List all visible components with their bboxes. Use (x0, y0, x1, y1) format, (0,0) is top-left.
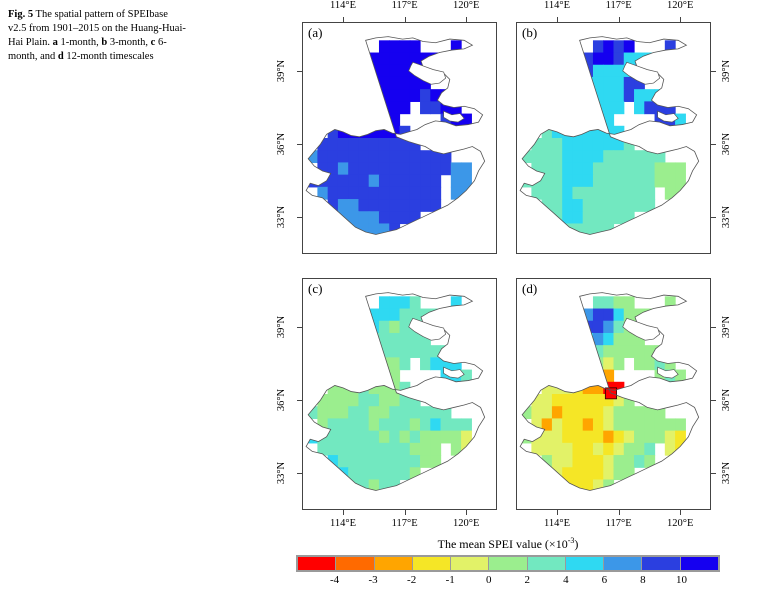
grid-cell (583, 370, 594, 383)
grid-cell (338, 345, 349, 358)
grid-cell (389, 418, 400, 431)
grid-cell (369, 138, 380, 151)
grid-cell (542, 150, 553, 163)
grid-cell (400, 150, 411, 163)
grid-cell (328, 199, 339, 212)
grid-cell (389, 333, 400, 346)
x-axis-tick (680, 510, 681, 515)
grid-cell (410, 455, 421, 468)
grid-cell (338, 370, 349, 383)
grid-cell (348, 199, 359, 212)
grid-cell (603, 138, 614, 151)
panel-grid: (a)114°E117°E120°E39°N36°N33°N(b)114°E11… (250, 0, 766, 535)
grid-cell (369, 114, 380, 127)
grid-cell (665, 187, 676, 200)
grid-cell (358, 199, 369, 212)
x-axis-tick (405, 510, 406, 515)
grid-cell (665, 101, 676, 114)
y-axis-label: 39°N (276, 316, 287, 338)
grid-cell (624, 455, 635, 468)
grid-cell (552, 114, 563, 127)
grid-cell (358, 357, 369, 370)
grid-cell (614, 309, 625, 322)
grid-cell (583, 406, 594, 419)
grid-cell (624, 333, 635, 346)
grid-cell (358, 431, 369, 444)
grid-cell (430, 309, 441, 322)
colorbar-frame (296, 555, 720, 572)
grid-cell (614, 199, 625, 212)
grid-cell (624, 89, 635, 102)
grid-cell (552, 357, 563, 370)
grid-cell (379, 199, 390, 212)
grid-cell (614, 345, 625, 358)
panel-label-a: (a) (308, 25, 322, 41)
grid-cell (614, 333, 625, 346)
grid-cell (348, 150, 359, 163)
grid-cell (348, 431, 359, 444)
grid-cell (644, 101, 655, 114)
colorbar-segment-5 (489, 557, 527, 570)
grid-cell (675, 162, 686, 175)
grid-cell (572, 114, 583, 127)
grid-cell (430, 89, 441, 102)
grid-cell (624, 199, 635, 212)
grid-cell (420, 406, 431, 419)
grid-cell (593, 211, 604, 224)
grid-cell (552, 187, 563, 200)
grid-cell (348, 406, 359, 419)
grid-cell (379, 370, 390, 383)
grid-cell (644, 455, 655, 468)
x-axis-label: 114°E (544, 518, 570, 529)
grid-cell (521, 150, 532, 163)
grid-cell (593, 467, 604, 480)
grid-cell (562, 357, 573, 370)
grid-cell (603, 77, 614, 90)
x-axis-label: 117°E (606, 518, 632, 529)
grid-cell (634, 345, 645, 358)
y-axis-tick (297, 144, 302, 145)
grid-cell (572, 406, 583, 419)
grid-cell (348, 114, 359, 127)
grid-cell (583, 382, 594, 395)
grid-cell (603, 150, 614, 163)
grid-cell (348, 357, 359, 370)
grid-cell (430, 455, 441, 468)
grid-cell (562, 418, 573, 431)
grid-cell (358, 455, 369, 468)
grid-cell (420, 89, 431, 102)
y-axis-label: 33°N (721, 206, 732, 228)
grid-cell (358, 223, 369, 236)
grid-cell (593, 309, 604, 322)
grid-cell (369, 394, 380, 407)
grid-cell (655, 418, 666, 431)
grid-cell (369, 175, 380, 188)
grid-cell (614, 406, 625, 419)
grid-cell (562, 114, 573, 127)
grid-cell (369, 211, 380, 224)
grid-cell (389, 101, 400, 114)
grid-cell (562, 150, 573, 163)
grid-cell (451, 296, 462, 309)
grid-cell (441, 53, 452, 66)
x-axis-label: 120°E (667, 0, 693, 11)
grid-cell (389, 40, 400, 53)
grid-cell (583, 443, 594, 456)
grid-cell (328, 394, 339, 407)
grid-cell (583, 150, 594, 163)
grid-cell (552, 175, 563, 188)
grid-cell (624, 150, 635, 163)
grid-cell (338, 162, 349, 175)
grid-cell (572, 370, 583, 383)
grid-cell (389, 65, 400, 78)
grid-cell (400, 443, 411, 456)
grid-cell (451, 431, 462, 444)
grid-cell (358, 138, 369, 151)
colorbar-tick-label: -3 (368, 574, 377, 586)
grid-cell (400, 345, 411, 358)
grid-cell (358, 406, 369, 419)
grid-cell (451, 309, 462, 322)
grid-cell (307, 150, 318, 163)
y-axis-tick (711, 217, 716, 218)
grid-cell (603, 321, 614, 334)
grid-cell (338, 431, 349, 444)
x-axis-label: 114°E (330, 0, 356, 11)
grid-cell (348, 138, 359, 151)
grid-cell (328, 443, 339, 456)
grid-cell (410, 150, 421, 163)
grid-cell (358, 175, 369, 188)
grid-cell (389, 150, 400, 163)
caption-text-d: 12-month timescales (64, 51, 154, 62)
colorbar-segment-1 (336, 557, 374, 570)
grid-cell (624, 443, 635, 456)
grid-cell (603, 406, 614, 419)
grid-cell (562, 101, 573, 114)
grid-cell (400, 40, 411, 53)
grid-cell (338, 357, 349, 370)
grid-cell (379, 150, 390, 163)
y-axis-tick (711, 144, 716, 145)
colorbar-tick-label: 6 (602, 574, 608, 586)
grid-cell (593, 418, 604, 431)
grid-cell (634, 406, 645, 419)
grid-cell (572, 321, 583, 334)
grid-cell (420, 443, 431, 456)
grid-cell (379, 394, 390, 407)
grid-cell (572, 357, 583, 370)
grid-cell (389, 89, 400, 102)
x-axis-tick (405, 17, 406, 22)
grid-cell (358, 321, 369, 334)
grid-cell (358, 89, 369, 102)
grid-cell (400, 77, 411, 90)
grid-cell (389, 357, 400, 370)
grid-cell (552, 101, 563, 114)
colorbar-title-main: The mean SPEI value (×10 (438, 537, 568, 551)
figure-caption: Fig. 5 The spatial pattern of SPEIbase v… (8, 8, 186, 63)
x-axis-tick (343, 17, 344, 22)
grid-cell (614, 443, 625, 456)
grid-cell (562, 455, 573, 468)
grid-cell (369, 418, 380, 431)
colorbar-segment-7 (566, 557, 604, 570)
grid-cell (379, 321, 390, 334)
grid-cell (307, 406, 318, 419)
grid-cell (379, 296, 390, 309)
grid-cell (461, 418, 472, 431)
grid-cell (583, 467, 594, 480)
grid-cell (369, 382, 380, 395)
grid-cell (603, 101, 614, 114)
grid-cell (665, 431, 676, 444)
grid-cell (400, 455, 411, 468)
map-panel-b: (b)114°E117°E120°E39°N36°N33°N (516, 22, 711, 254)
grid-cell (614, 175, 625, 188)
colorbar-segment-3 (413, 557, 451, 570)
grid-cell (552, 418, 563, 431)
colorbar-title-close: ) (574, 537, 578, 551)
grid-cell (389, 443, 400, 456)
grid-cell (338, 187, 349, 200)
grid-cell (655, 175, 666, 188)
x-axis-label: 117°E (392, 0, 418, 11)
grid-cell (430, 345, 441, 358)
grid-cell (552, 455, 563, 468)
grid-cell (624, 175, 635, 188)
grid-cell (562, 89, 573, 102)
colorbar-tick-label: -2 (407, 574, 416, 586)
grid-cell (348, 394, 359, 407)
colorbar-segment-10 (681, 557, 718, 570)
x-axis-label: 120°E (667, 518, 693, 529)
grid-cell (410, 431, 421, 444)
grid-cell (430, 162, 441, 175)
grid-cell (531, 406, 542, 419)
grid-cell (665, 162, 676, 175)
y-axis-tick (711, 71, 716, 72)
grid-cell (644, 431, 655, 444)
grid-cell (430, 443, 441, 456)
grid-cell (583, 431, 594, 444)
grid-cell (562, 333, 573, 346)
grid-cell (614, 101, 625, 114)
grid-cell (369, 199, 380, 212)
grid-cell (552, 150, 563, 163)
grid-cell (389, 296, 400, 309)
grid-cell (542, 126, 553, 139)
grid-cell (410, 77, 421, 90)
grid-cell (379, 40, 390, 53)
grid-cell (583, 101, 594, 114)
grid-cell (644, 89, 655, 102)
grid-cell (562, 199, 573, 212)
grid-cell (338, 150, 349, 163)
grid-cell (644, 345, 655, 358)
grid-cell (410, 40, 421, 53)
colorbar-tick-label: 8 (640, 574, 646, 586)
grid-cell (572, 333, 583, 346)
grid-cell (348, 333, 359, 346)
grid-cell (593, 138, 604, 151)
grid-cell (358, 211, 369, 224)
grid-cell (562, 321, 573, 334)
grid-cell (603, 53, 614, 66)
grid-cell (552, 138, 563, 151)
grid-cell (441, 162, 452, 175)
grid-cell (379, 211, 390, 224)
grid-cell (552, 370, 563, 383)
grid-cell (441, 309, 452, 322)
colorbar-segment-4 (451, 557, 489, 570)
grid-cell (614, 89, 625, 102)
grid-cell (348, 321, 359, 334)
grid-cell (624, 296, 635, 309)
grid-cell (400, 187, 411, 200)
grid-cell (583, 175, 594, 188)
grid-cell (420, 175, 431, 188)
grid-cell (655, 345, 666, 358)
grid-cell (389, 406, 400, 419)
y-axis-tick (711, 400, 716, 401)
y-axis-label: 39°N (721, 316, 732, 338)
grid-cell (675, 418, 686, 431)
y-axis-label: 36°N (276, 389, 287, 411)
x-axis-label: 114°E (330, 518, 356, 529)
grid-cell (644, 162, 655, 175)
grid-cell (552, 443, 563, 456)
grid-cell (400, 162, 411, 175)
grid-cell (593, 321, 604, 334)
grid-cell (348, 175, 359, 188)
grid-cell (379, 223, 390, 236)
grid-cell (338, 406, 349, 419)
grid-cell (603, 296, 614, 309)
x-axis-label: 117°E (392, 518, 418, 529)
grid-cell (358, 77, 369, 90)
grid-cell (583, 138, 594, 151)
grid-cell (552, 199, 563, 212)
grid-cell (358, 114, 369, 127)
grid-cell (603, 333, 614, 346)
grid-cell (338, 114, 349, 127)
grid-cell (583, 187, 594, 200)
colorbar-tick-label: 2 (525, 574, 531, 586)
grid-cell (379, 175, 390, 188)
grid-cell (400, 333, 411, 346)
x-axis-tick (557, 510, 558, 515)
y-axis-label: 36°N (721, 389, 732, 411)
grid-cell (572, 309, 583, 322)
grid-cell (389, 309, 400, 322)
grid-cell (603, 89, 614, 102)
grid-cell (634, 101, 645, 114)
grid-cell (441, 345, 452, 358)
grid-cell (572, 479, 583, 492)
grid-cell (451, 101, 462, 114)
grid-cell (552, 406, 563, 419)
grid-cell (583, 455, 594, 468)
x-axis-tick (619, 17, 620, 22)
grid-cell (358, 394, 369, 407)
grid-cell (593, 40, 604, 53)
grid-cell (634, 455, 645, 468)
map-panel-c: (c)114°E117°E120°E39°N36°N33°N (302, 278, 497, 510)
grid-cell (603, 175, 614, 188)
grid-cell (593, 296, 604, 309)
grid-cell (593, 406, 604, 419)
grid-cell (369, 443, 380, 456)
colorbar-tick-label: 0 (486, 574, 492, 586)
grid-cell (603, 357, 614, 370)
grid-cell (420, 150, 431, 163)
grid-cell (562, 65, 573, 78)
grid-cell (420, 455, 431, 468)
grid-cell (583, 199, 594, 212)
grid-cell (358, 150, 369, 163)
grid-cell (400, 101, 411, 114)
grid-cell (572, 101, 583, 114)
grid-cell (400, 199, 411, 212)
grid-cell (358, 479, 369, 492)
grid-cell (379, 187, 390, 200)
grid-cell (542, 406, 553, 419)
grid-cell (348, 89, 359, 102)
grid-cell (328, 187, 339, 200)
grid-cell (400, 296, 411, 309)
grid-cell (379, 53, 390, 66)
grid-cell (614, 418, 625, 431)
grid-cell (634, 150, 645, 163)
x-axis-tick (466, 17, 467, 22)
grid-cell (389, 345, 400, 358)
grid-cell (572, 211, 583, 224)
grid-cell (593, 479, 604, 492)
grid-cell (410, 345, 421, 358)
grid-cell (369, 467, 380, 480)
grid-cell (603, 418, 614, 431)
grid-cell (451, 418, 462, 431)
grid-cell (624, 431, 635, 444)
grid-cell (603, 40, 614, 53)
grid-cell (389, 321, 400, 334)
x-axis-tick (557, 17, 558, 22)
grid-cell (634, 162, 645, 175)
grid-cell (338, 394, 349, 407)
grid-cell (410, 296, 421, 309)
grid-cell (665, 53, 676, 66)
grid-cell (379, 455, 390, 468)
grid-cell (644, 199, 655, 212)
grid-cell (572, 223, 583, 236)
y-axis-tick (711, 473, 716, 474)
grid-cell (644, 418, 655, 431)
grid-cell (603, 187, 614, 200)
grid-cell (521, 406, 532, 419)
x-axis-tick (343, 510, 344, 515)
grid-cell (441, 418, 452, 431)
grid-cell (358, 345, 369, 358)
grid-cell (358, 467, 369, 480)
y-axis-tick (297, 473, 302, 474)
grid-cell (593, 126, 604, 139)
grid-cell (665, 443, 676, 456)
grid-cell (369, 455, 380, 468)
